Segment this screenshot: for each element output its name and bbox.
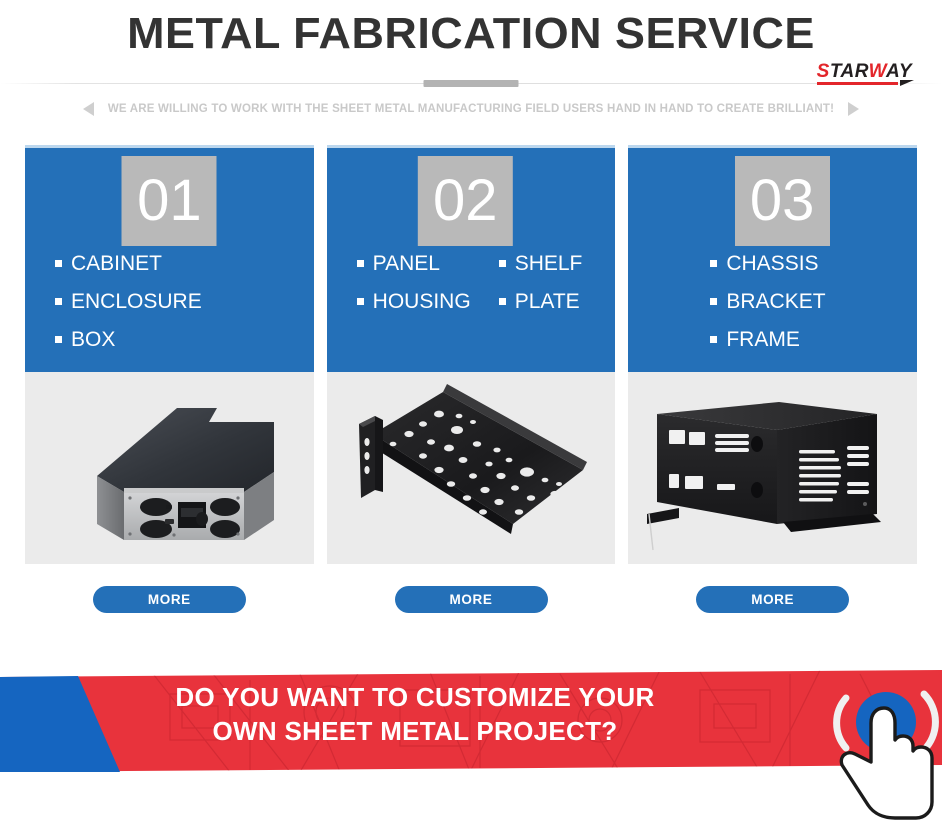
- list-item: ENCLOSURE: [55, 291, 202, 312]
- list-item-label: BOX: [71, 329, 115, 350]
- list-item: BOX: [55, 329, 202, 350]
- card-number-02: 02: [433, 172, 498, 230]
- card-items-01: CABINET ENCLOSURE BOX: [25, 253, 314, 367]
- card-number-badge-03: 03: [735, 156, 830, 246]
- perforated-sheet-metal-panel-illustration: [331, 372, 611, 564]
- bullet-icon: [357, 298, 364, 305]
- logo-underline: [817, 82, 898, 85]
- service-card-01: 01 CABINET ENCLOSURE: [25, 145, 314, 613]
- card-items-02: PANEL HOUSING SHELF: [327, 253, 616, 329]
- list-item-label: PLATE: [515, 291, 580, 312]
- card-items-column: CHASSIS BRACKET FRAME: [710, 253, 825, 367]
- list-item-label: SHELF: [515, 253, 583, 274]
- banner-red-band: [0, 670, 942, 772]
- bullet-icon: [55, 298, 62, 305]
- list-item-label: ENCLOSURE: [71, 291, 202, 312]
- list-item: PLATE: [499, 291, 583, 312]
- black-metal-chassis-box-illustration: [633, 372, 913, 564]
- list-item: SHELF: [499, 253, 583, 274]
- marquee-row: WE ARE WILLING TO WORK WITH THE SHEET ME…: [0, 102, 942, 116]
- card-number-03: 03: [750, 172, 815, 230]
- bullet-icon: [499, 298, 506, 305]
- bullet-icon: [55, 336, 62, 343]
- card-items-03: CHASSIS BRACKET FRAME: [628, 253, 917, 367]
- list-item-label: FRAME: [726, 329, 800, 350]
- divider-tab-marker: [424, 80, 519, 87]
- card-header-01: 01 CABINET ENCLOSURE: [25, 145, 314, 372]
- page-header: METAL FABRICATION SERVICE STARWAY WE ARE…: [0, 0, 942, 143]
- cta-banner-graphic: [0, 650, 942, 823]
- logo-part-s: S: [817, 61, 830, 82]
- bullet-icon: [55, 260, 62, 267]
- list-item: HOUSING: [357, 291, 471, 312]
- logo-part-ay: AY: [886, 61, 912, 82]
- logo-text: STARWAY: [817, 61, 912, 82]
- card-header-02: 02 PANEL HOUSING: [327, 145, 616, 372]
- bullet-icon: [710, 298, 717, 305]
- list-item-label: PANEL: [373, 253, 440, 274]
- card-more-wrap-02: MORE: [327, 564, 616, 613]
- card-image-02: [327, 372, 616, 564]
- metal-cabinet-enclosure-illustration: [29, 372, 309, 564]
- list-item: CHASSIS: [710, 253, 825, 274]
- page-title: METAL FABRICATION SERVICE: [0, 0, 942, 56]
- list-item: FRAME: [710, 329, 825, 350]
- service-card-02: 02 PANEL HOUSING: [327, 145, 616, 613]
- card-image-01: [25, 372, 314, 564]
- card-number-badge-02: 02: [418, 156, 513, 246]
- logo-part-tar: TAR: [830, 61, 869, 82]
- list-item-label: CHASSIS: [726, 253, 818, 274]
- more-button-03[interactable]: MORE: [696, 586, 849, 613]
- more-button-02[interactable]: MORE: [395, 586, 548, 613]
- card-items-column: CABINET ENCLOSURE BOX: [55, 253, 202, 367]
- service-card-list: 01 CABINET ENCLOSURE: [0, 145, 942, 613]
- card-more-wrap-01: MORE: [25, 564, 314, 613]
- list-item: PANEL: [357, 253, 471, 274]
- card-header-03: 03 CHASSIS BRACKET: [628, 145, 917, 372]
- card-number-badge-01: 01: [122, 156, 217, 246]
- card-items-column: SHELF PLATE: [499, 253, 583, 329]
- prev-arrow-icon[interactable]: [83, 102, 94, 116]
- logo-part-w: W: [869, 61, 886, 82]
- list-item-label: BRACKET: [726, 291, 825, 312]
- service-card-03: 03 CHASSIS BRACKET: [628, 145, 917, 613]
- next-arrow-icon[interactable]: [848, 102, 859, 116]
- list-item-label: HOUSING: [373, 291, 471, 312]
- starway-logo: STARWAY: [817, 62, 912, 82]
- more-button-01[interactable]: MORE: [93, 586, 246, 613]
- bullet-icon: [710, 336, 717, 343]
- list-item: CABINET: [55, 253, 202, 274]
- logo-swoosh-icon: [900, 80, 914, 86]
- card-number-01: 01: [137, 172, 202, 230]
- card-items-column: PANEL HOUSING: [357, 253, 471, 329]
- marquee-text: WE ARE WILLING TO WORK WITH THE SHEET ME…: [108, 103, 834, 115]
- bullet-icon: [499, 260, 506, 267]
- card-more-wrap-03: MORE: [628, 564, 917, 613]
- cta-banner[interactable]: DO YOU WANT TO CUSTOMIZE YOUR OWN SHEET …: [0, 650, 942, 823]
- card-image-03: [628, 372, 917, 564]
- bullet-icon: [357, 260, 364, 267]
- bullet-icon: [710, 260, 717, 267]
- header-divider: [0, 74, 942, 94]
- list-item-label: CABINET: [71, 253, 162, 274]
- list-item: BRACKET: [710, 291, 825, 312]
